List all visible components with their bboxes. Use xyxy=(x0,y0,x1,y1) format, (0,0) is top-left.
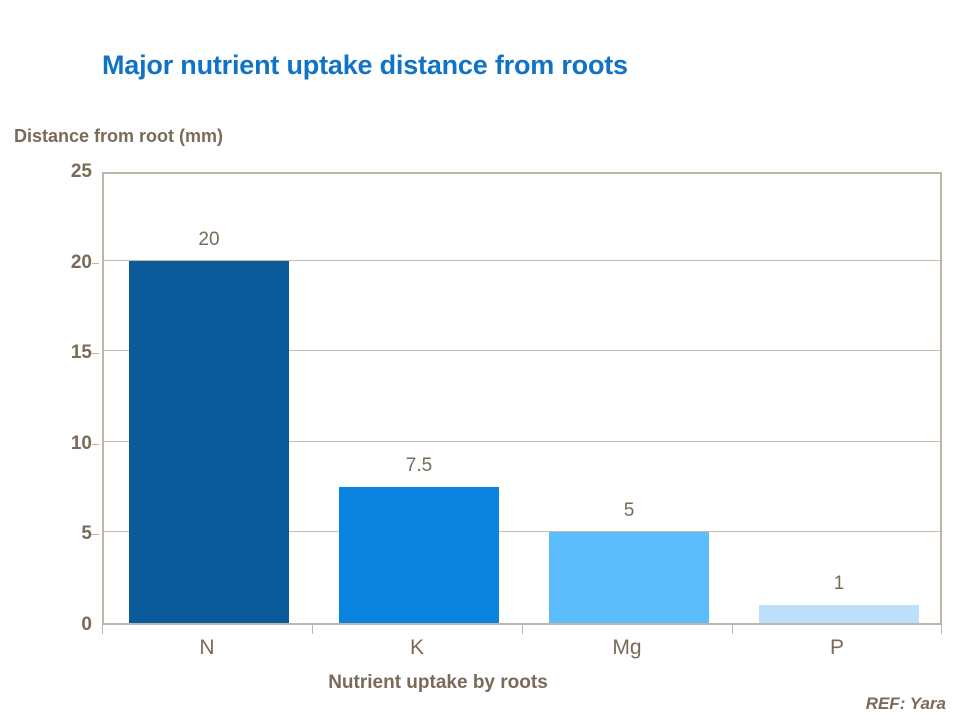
y-tickmark xyxy=(92,444,99,445)
bar-n[interactable] xyxy=(129,261,290,623)
x-tickmark xyxy=(102,625,103,634)
x-axis-title-text: Nutrient uptake by roots xyxy=(328,672,548,693)
x-label-p: P xyxy=(830,636,844,660)
x-axis-labels: NKMgP xyxy=(102,636,942,666)
y-axis-ticks: 0510152025 xyxy=(0,172,92,625)
x-tickmark xyxy=(312,625,313,634)
x-label-n: N xyxy=(199,636,214,660)
y-tickmark xyxy=(92,353,99,354)
bars-layer: 207.551 xyxy=(104,174,940,623)
y-tick-label: 20 xyxy=(6,252,92,274)
x-tickmark xyxy=(732,625,733,634)
x-label-mg: Mg xyxy=(612,636,641,660)
y-axis-title: Distance from root (mm) xyxy=(14,126,223,147)
bar-value-label: 7.5 xyxy=(406,455,432,477)
chart-title: Major nutrient uptake distance from root… xyxy=(102,50,628,81)
x-axis-title: Nutrient uptake by roots xyxy=(0,672,960,694)
x-tickmark xyxy=(941,625,942,634)
bar-value-label: 5 xyxy=(624,500,635,522)
bar-chart: Major nutrient uptake distance from root… xyxy=(0,0,960,720)
y-tick-label: 0 xyxy=(6,614,92,636)
bar-value-label: 20 xyxy=(198,229,219,251)
y-tickmark xyxy=(92,263,99,264)
y-tick-label: 10 xyxy=(6,433,92,455)
x-tickmark xyxy=(522,625,523,634)
x-axis-tickmarks xyxy=(102,625,942,634)
y-tick-label: 15 xyxy=(6,342,92,364)
bar-k[interactable] xyxy=(339,487,500,623)
y-tick-label: 25 xyxy=(6,161,92,183)
y-tickmark xyxy=(92,534,99,535)
bar-p[interactable] xyxy=(759,605,920,623)
y-tick-label: 5 xyxy=(6,523,92,545)
source-note: REF: Yara xyxy=(866,694,946,714)
x-label-k: K xyxy=(410,636,424,660)
bar-value-label: 1 xyxy=(834,573,845,595)
plot-area: 207.551 xyxy=(102,172,942,625)
bar-mg[interactable] xyxy=(549,532,710,623)
